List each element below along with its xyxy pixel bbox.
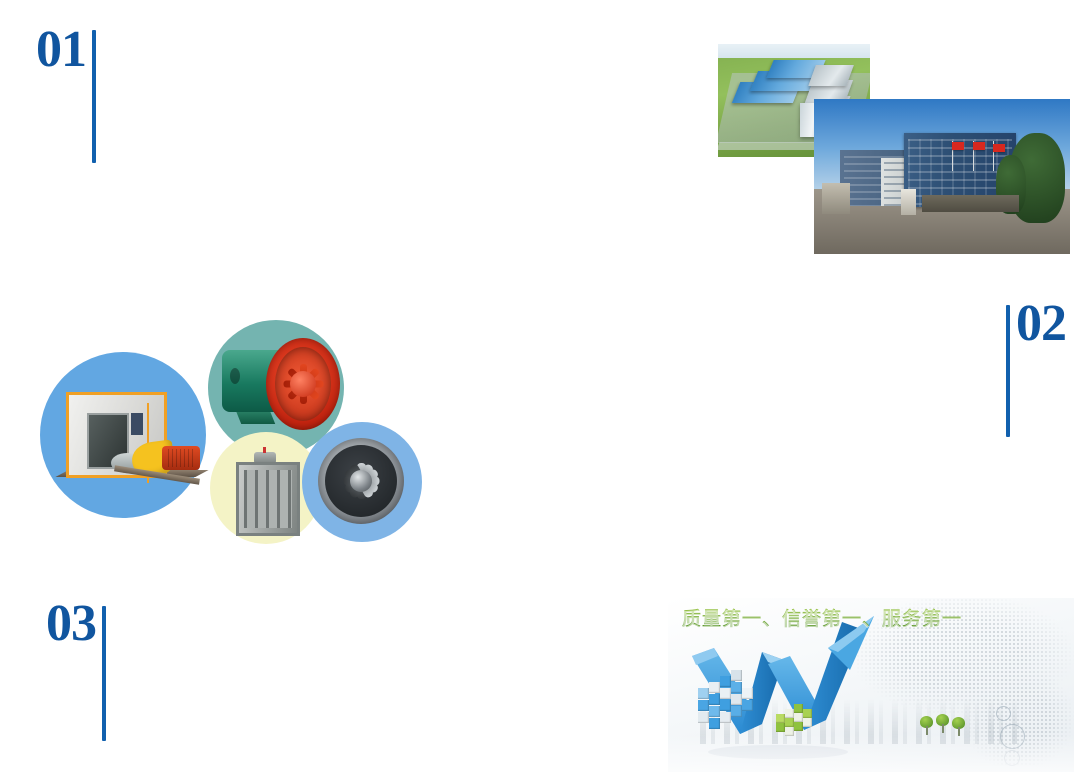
growth-chart-banner: 质量第一、信誉第一、服务第一 [668,598,1074,772]
section-rule-01 [92,30,96,163]
green-axial-fan [222,336,342,440]
blue-cube-cluster [698,670,768,732]
office-guard-house [822,183,850,214]
metal-axial-fan [314,434,414,530]
metal-fan-shell [318,438,404,524]
banner-floor-reflection [668,734,1074,772]
section-number-03: 03 [46,598,96,650]
cabinet-control-panel [131,413,143,435]
section-marker-01: 01 [36,24,96,163]
section-rule-03 [102,606,106,741]
metal-fan-hub [350,470,372,492]
axial-fan-hub [290,371,316,397]
red-flag-3 [993,144,1005,152]
fire-damper [230,450,302,534]
red-flag-1 [952,142,964,150]
office-boundary-wall [922,195,1019,212]
section-rule-02 [1006,305,1010,437]
cabinet-centrifugal-fan [54,384,204,500]
section-number-02: 02 [1016,298,1066,350]
bubble-small [996,706,1011,721]
office-gate-pillar [901,189,916,215]
red-flag-2 [973,142,985,150]
section-marker-02: 02 [1006,298,1066,437]
cabinet-inlet [87,413,129,469]
product-photo-cluster [34,318,424,548]
cabinet-motor [162,446,200,470]
axial-fan-impeller-ring [266,338,340,430]
office-building-photo [814,99,1070,254]
damper-frame [236,462,300,536]
banner-slogan: 质量第一、信誉第一、服务第一 [682,604,962,631]
page-canvas: 01 02 03 [0,0,1074,772]
section-number-01: 01 [36,24,86,76]
section-marker-03: 03 [46,598,106,741]
